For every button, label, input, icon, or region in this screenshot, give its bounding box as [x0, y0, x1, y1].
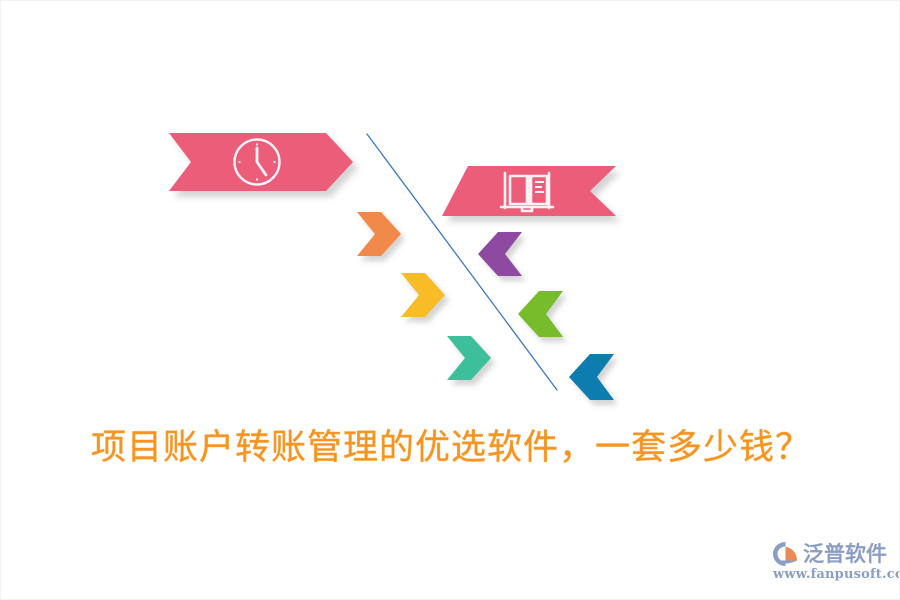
page-title: 项目账户转账管理的优选软件，一套多少钱？ [1, 421, 900, 475]
chevron-purple [478, 232, 522, 276]
poster-canvas: 项目账户转账管理的优选软件，一套多少钱？ 泛普软件 www.fanpusoft.… [0, 0, 900, 600]
chevron-blue [569, 354, 614, 400]
brand-logo-row: 泛普软件 [771, 539, 887, 569]
chevron-green [518, 291, 563, 337]
fanpu-logo-icon [771, 540, 801, 568]
brand-watermark: 泛普软件 www.fanpusoft.com [771, 539, 893, 587]
brand-name: 泛普软件 [803, 540, 887, 568]
chevron-orange [357, 212, 401, 256]
chevron-arrow-infographic [1, 1, 900, 600]
chevron-teal [447, 336, 491, 380]
chevron-yellow [401, 273, 445, 317]
brand-url: www.fanpusoft.com [773, 567, 900, 582]
banner-left-clock [169, 133, 353, 191]
